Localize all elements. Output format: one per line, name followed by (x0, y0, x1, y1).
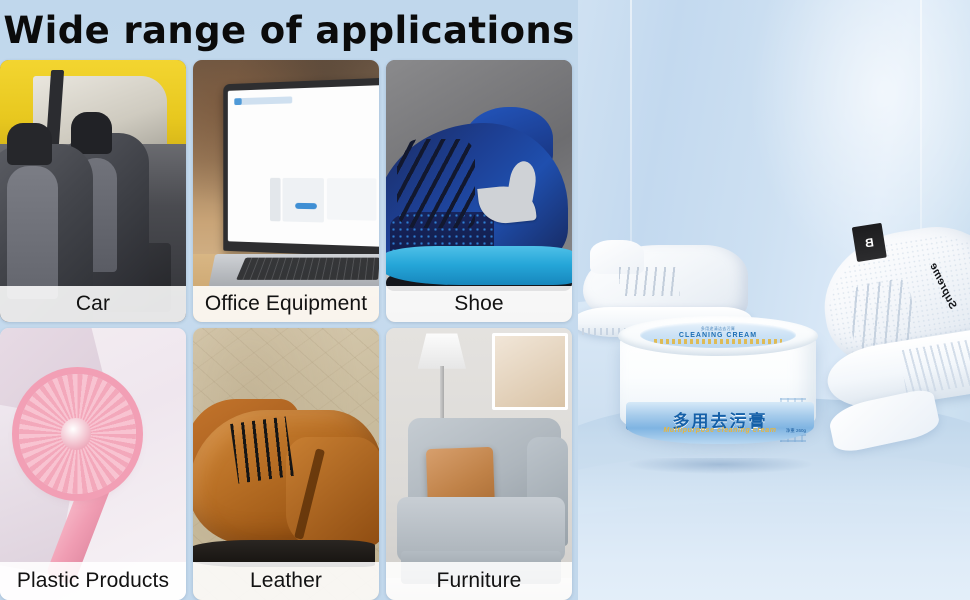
tile-caption: Shoe (386, 286, 572, 322)
product-hero-scene: B Supreme 多用去污膏 Multipurpose cleaning cr… (578, 0, 970, 600)
product-jar[interactable]: 多用去污膏 Multipurpose cleaning cream 净重 260… (618, 316, 818, 451)
podium-front-step (578, 502, 970, 600)
tile-caption: Leather (193, 562, 379, 600)
application-tile-office-equipment[interactable]: Office Equipment (193, 60, 379, 322)
applications-panel: Wide range of applications Car (0, 0, 578, 600)
car-interior-photo (0, 60, 186, 322)
product-net-weight: 净重 260g (786, 428, 806, 434)
application-tile-shoe[interactable]: Shoe (386, 60, 572, 322)
tile-caption: Plastic Products (0, 562, 186, 600)
gray-armchair-photo (386, 328, 572, 600)
jar-label-band: 多用去污膏 Multipurpose cleaning cream 净重 260… (626, 402, 814, 444)
tile-caption: Office Equipment (193, 286, 379, 322)
laptop-photo (193, 60, 379, 322)
shoe-tag-letter: B (864, 235, 875, 250)
application-tile-plastic-products[interactable]: Plastic Products (0, 328, 186, 600)
page-title: Wide range of applications (0, 2, 578, 58)
product-banner: Wide range of applications Car (0, 0, 970, 600)
application-tile-car[interactable]: Car (0, 60, 186, 322)
blue-sneaker-photo (386, 60, 572, 322)
jar-lid-label: 多用途清洁去污膏 CLEANING CREAM (640, 322, 796, 348)
brown-leather-shoes-photo (193, 328, 379, 600)
lid-center-text: CLEANING CREAM (640, 332, 796, 339)
jar-lid: 多用途清洁去污膏 CLEANING CREAM (618, 316, 818, 356)
applications-grid: Car (0, 60, 578, 600)
application-tile-leather[interactable]: Leather (193, 328, 379, 600)
application-tile-furniture[interactable]: Furniture (386, 328, 572, 600)
pink-handheld-fan-photo (0, 328, 186, 600)
tile-caption: Car (0, 286, 186, 322)
shoe-heel-tag: B (852, 223, 887, 263)
tile-caption: Furniture (386, 562, 572, 600)
